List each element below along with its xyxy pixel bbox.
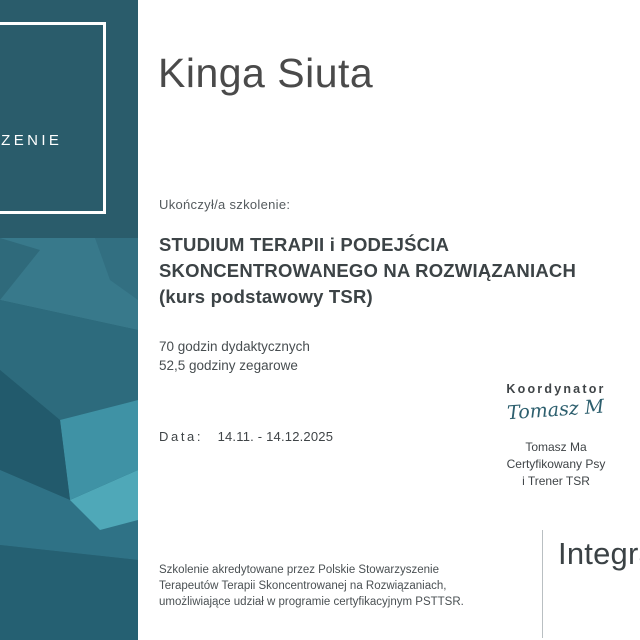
accreditation-note-line-2: Terapeutów Terapii Skoncentrowanej na Ro… <box>159 578 489 594</box>
band-frame-border <box>0 22 106 214</box>
certificate-main-content: Kinga Siuta Ukończył/a szkolenie: STUDIU… <box>138 0 640 640</box>
completed-label: Ukończył/a szkolenie: <box>159 197 290 212</box>
organization-logo-text: Integra <box>558 536 640 572</box>
coordinator-role-1: Certyfikowany Psy <box>426 456 640 473</box>
hours-clock: 52,5 godziny zegarowe <box>159 356 310 375</box>
recipient-name: Kinga Siuta <box>158 50 373 97</box>
coordinator-role-2: i Trener TSR <box>426 473 640 490</box>
accreditation-note-line-3: umożliwiające udział w programie certyfi… <box>159 594 489 610</box>
coordinator-label: Koordynator <box>426 382 640 396</box>
course-title-line-2: SKONCENTROWANEGO NA ROZWIĄZANIACH <box>159 258 640 284</box>
coordinator-block: Koordynator Tomasz M Tomasz Ma Certyfiko… <box>426 382 640 490</box>
date-value: 14.11. - 14.12.2025 <box>218 429 334 444</box>
accreditation-note-line-1: Szkolenie akredytowane przez Polskie Sto… <box>159 562 489 578</box>
coordinator-details: Tomasz Ma Certyfikowany Psy i Trener TSR <box>426 439 640 490</box>
course-title-line-1: STUDIUM TERAPII i PODEJŚCIA <box>159 232 640 258</box>
coordinator-name: Tomasz Ma <box>426 439 640 456</box>
course-title: STUDIUM TERAPII i PODEJŚCIA SKONCENTROWA… <box>159 232 640 310</box>
date-label: Data: <box>159 429 203 444</box>
left-decorative-band: UKOŃCZENIE <box>0 0 138 640</box>
hours-didactic: 70 godzin dydaktycznych <box>159 337 310 356</box>
course-title-line-3: (kurs podstawowy TSR) <box>159 284 640 310</box>
logo-divider <box>542 530 543 638</box>
accreditation-note: Szkolenie akredytowane przez Polskie Sto… <box>159 562 489 610</box>
date-row: Data: 14.11. - 14.12.2025 <box>159 429 333 444</box>
certificate-document: UKOŃCZENIE Kinga Siuta Ukończył/a szkole… <box>0 0 640 640</box>
band-title: UKOŃCZENIE <box>0 132 110 149</box>
course-hours: 70 godzin dydaktycznych 52,5 godziny zeg… <box>159 337 310 375</box>
